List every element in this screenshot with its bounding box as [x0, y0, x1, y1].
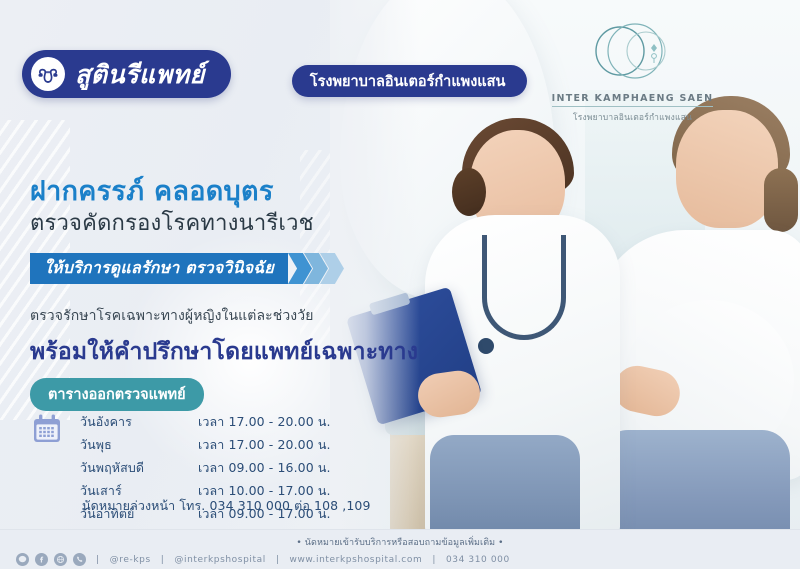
- table-row: วันพุธ เวลา 17.00 - 20.00 น.: [80, 433, 331, 456]
- footer-facebook-handle[interactable]: @interkpshospital: [174, 555, 265, 565]
- service-chevron-label: ให้บริการดูแลรักษา ตรวจวินิจฉัย: [30, 253, 288, 284]
- subtext-big: พร้อมให้คำปรึกษาโดยแพทย์เฉพาะทาง: [30, 334, 418, 370]
- schedule-time: เวลา 17.00 - 20.00 น.: [198, 433, 331, 456]
- schedule-day: วันพุธ: [80, 433, 198, 456]
- hospital-logo: INTER KAMPHAENG SAEN โรงพยาบาลอินเตอร์กำ…: [545, 20, 720, 124]
- specialty-badge: สูตินรีแพทย์ โรงพยาบาลอินเตอร์กำแพงแสน: [22, 50, 527, 98]
- overlapping-circles-icon: [590, 20, 676, 82]
- phone-icon[interactable]: [73, 553, 86, 566]
- table-row: วันพฤหัสบดี เวลา 09.00 - 16.00 น.: [80, 456, 331, 479]
- schedule-time: เวลา 17.00 - 20.00 น.: [198, 410, 331, 433]
- specialty-badge-title: สูตินรีแพทย์: [75, 62, 205, 87]
- banner-root: INTER KAMPHAENG SAEN โรงพยาบาลอินเตอร์กำ…: [0, 0, 800, 569]
- service-chevron-bar: ให้บริการดูแลรักษา ตรวจวินิจฉัย: [30, 253, 344, 284]
- calendar-icon: [30, 412, 64, 525]
- schedule-time: เวลา 09.00 - 16.00 น.: [198, 456, 331, 479]
- appointment-note: นัดหมายล่วงหน้า โทร. 034 310 000 ต่อ 108…: [82, 496, 371, 516]
- headline-secondary: ตรวจคัดกรองโรคทางนารีเวช: [30, 210, 314, 239]
- specialty-badge-bottom: โรงพยาบาลอินเตอร์กำแพงแสน: [292, 65, 528, 97]
- specialty-badge-subtitle: โรงพยาบาลอินเตอร์กำแพงแสน: [310, 74, 506, 90]
- footer-separator-1: |: [96, 555, 100, 565]
- subtext-block: ตรวจรักษาโรคเฉพาะทางผู้หญิงในแต่ละช่วงวั…: [30, 305, 418, 370]
- subtext-small: ตรวจรักษาโรคเฉพาะทางผู้หญิงในแต่ละช่วงวั…: [30, 305, 418, 327]
- stethoscope-bell-shape: [478, 338, 494, 354]
- specialty-badge-top: สูตินรีแพทย์: [22, 50, 231, 98]
- footer-tagline: • นัดหมายเข้ารับบริการหรือสอบถามข้อมูลเพ…: [0, 530, 800, 549]
- facebook-icon[interactable]: [35, 553, 48, 566]
- logo-name-th: โรงพยาบาลอินเตอร์กำแพงแสน: [545, 110, 720, 124]
- footer-separator-4: |: [432, 555, 436, 565]
- footer-separator-2: |: [161, 555, 165, 565]
- logo-name-en: INTER KAMPHAENG SAEN: [552, 93, 714, 107]
- schedule-day: วันอังคาร: [80, 410, 198, 433]
- headline-block: ฝากครรภ์ คลอดบุตร ตรวจคัดกรองโรคทางนารีเ…: [30, 176, 314, 239]
- footer-contact-row: | @re-kps | @interkpshospital | www.inte…: [0, 553, 800, 566]
- headline-primary: ฝากครรภ์ คลอดบุตร: [30, 176, 314, 207]
- uterus-icon: [31, 57, 65, 91]
- schedule-day: วันพฤหัสบดี: [80, 456, 198, 479]
- doctor-hair-bun-shape: [452, 168, 486, 216]
- patient-ponytail-shape: [764, 168, 798, 232]
- stethoscope-icon: [482, 235, 566, 340]
- line-icon[interactable]: [16, 553, 29, 566]
- footer-separator-3: |: [276, 555, 280, 565]
- table-row: วันอังคาร เวลา 17.00 - 20.00 น.: [80, 410, 331, 433]
- schedule-badge: ตารางออกตรวจแพทย์: [30, 378, 204, 411]
- footer-website[interactable]: www.interkpshospital.com: [289, 555, 422, 565]
- patient-jeans-shape: [600, 430, 790, 545]
- globe-icon[interactable]: [54, 553, 67, 566]
- footer-phone[interactable]: 034 310 000: [446, 555, 510, 565]
- footer-bar: • นัดหมายเข้ารับบริการหรือสอบถามข้อมูลเพ…: [0, 529, 800, 569]
- footer-line-id[interactable]: @re-kps: [110, 555, 151, 565]
- patient-head-shape: [676, 110, 778, 228]
